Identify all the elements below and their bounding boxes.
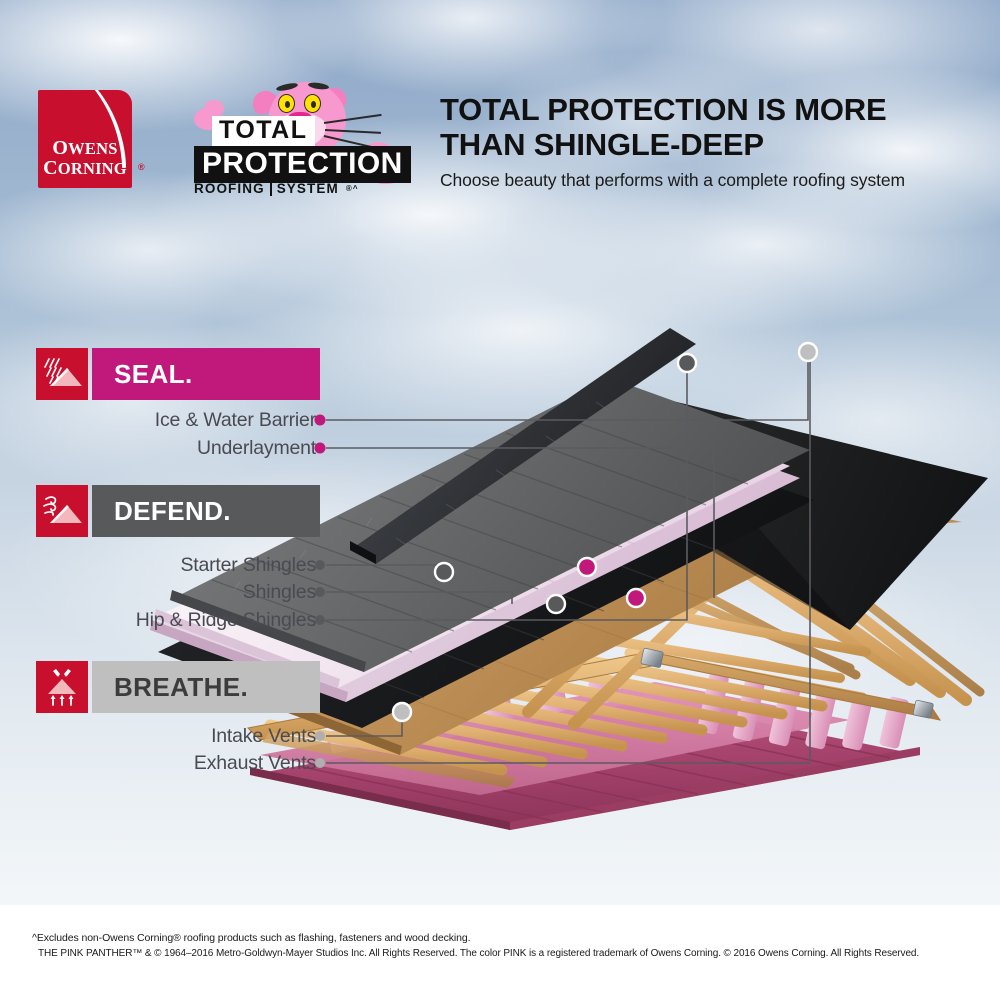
defend-title: DEFEND. <box>114 496 231 527</box>
label-underlayment[interactable]: Underlayment <box>197 437 316 460</box>
label-exhaust-vents[interactable]: Exhaust Vents <box>194 752 316 775</box>
total-word: TOTAL <box>212 116 315 146</box>
owens-corning-logo: OWENS CORNING <box>38 90 132 188</box>
system-word: SYSTEM <box>277 181 339 196</box>
footer-line-2: THE PINK PANTHER™ & © 1964–2016 Metro-Go… <box>32 946 972 962</box>
attic-ventilation-icon <box>36 661 88 713</box>
total-protection-logo: TOTAL PROTECTION ROOFING SYSTEM ®^ <box>168 78 414 200</box>
section-seal[interactable]: SEAL. <box>36 348 320 400</box>
label-starter-shingles[interactable]: Starter Shingles <box>180 554 316 577</box>
roofing-system-subline: ROOFING SYSTEM ®^ <box>194 181 359 196</box>
breathe-icon <box>36 661 88 713</box>
breathe-title: BREATHE. <box>114 672 248 703</box>
logo-wordmark: OWENS CORNING <box>38 138 132 179</box>
defend-bar[interactable]: DEFEND. <box>92 485 320 537</box>
breathe-bar[interactable]: BREATHE. <box>92 661 320 713</box>
label-shingles[interactable]: Shingles <box>243 581 316 604</box>
footer-legal: ^Excludes non-Owens Corning® roofing pro… <box>32 930 972 962</box>
label-ice-water-barrier[interactable]: Ice & Water Barrier <box>155 409 316 432</box>
seal-bar[interactable]: SEAL. <box>92 348 320 400</box>
panther-paw-left-upper-icon <box>204 100 224 117</box>
system-trademark-marks: ®^ <box>346 184 359 193</box>
roofing-word: ROOFING <box>194 181 265 196</box>
headline-line-1: TOTAL PROTECTION IS MORE <box>440 92 980 127</box>
logo-line-corning: CORNING <box>38 158 132 178</box>
registered-mark: ® <box>138 162 145 172</box>
label-intake-vents[interactable]: Intake Vents <box>211 725 316 748</box>
seal-icon <box>36 348 88 400</box>
divider-bar <box>270 182 272 196</box>
panther-pupil-left-icon <box>285 101 290 108</box>
protection-word: PROTECTION <box>194 146 411 183</box>
logo-line-owens: OWENS <box>38 138 132 158</box>
defend-icon <box>36 485 88 537</box>
poster-canvas: OWENS CORNING ® TOTAL <box>0 0 1000 1000</box>
seal-title: SEAL. <box>114 359 193 390</box>
panther-pupil-right-icon <box>311 101 316 108</box>
footer-line-1: ^Excludes non-Owens Corning® roofing pro… <box>32 930 972 946</box>
wind-on-roof-icon <box>36 485 88 537</box>
page-subheadline: Choose beauty that performs with a compl… <box>440 170 1000 191</box>
header: OWENS CORNING ® TOTAL <box>0 0 1000 210</box>
rain-on-roof-icon <box>36 348 88 400</box>
section-breathe[interactable]: BREATHE. <box>36 661 320 713</box>
label-hip-ridge-shingles[interactable]: Hip & Ridge Shingles <box>136 609 316 632</box>
headline-line-2: THAN SHINGLE-DEEP <box>440 127 980 162</box>
section-defend[interactable]: DEFEND. <box>36 485 320 537</box>
page-headline: TOTAL PROTECTION IS MORE THAN SHINGLE-DE… <box>440 92 980 162</box>
